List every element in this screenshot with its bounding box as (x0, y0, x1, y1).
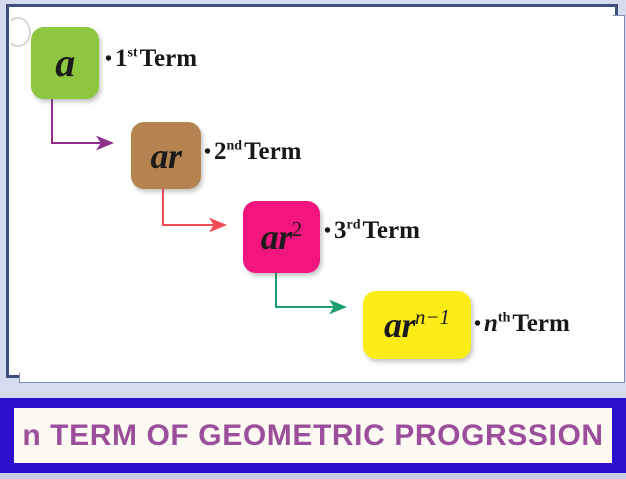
term-word-2: Term (244, 138, 301, 165)
term-box-ar[interactable]: ar (131, 122, 201, 189)
bottom-strip (0, 473, 626, 479)
ordinal-n: nth (484, 310, 510, 337)
term-box-a[interactable]: a (31, 27, 99, 99)
term-word-1: Term (140, 45, 197, 72)
caption-box: n TERM OF GEOMETRIC PROGRSSION (14, 408, 612, 463)
term-expression-ar: ar (150, 138, 181, 174)
term-expression-a: a (55, 43, 75, 83)
term-word-n: Term (512, 310, 569, 337)
term-expression-arn: arn−1 (384, 307, 450, 343)
ordinal-3: 3rd (334, 217, 361, 244)
bullet-icon-3: • (324, 220, 331, 242)
term-expression-ar2: ar2 (261, 219, 302, 255)
bullet-icon-2: • (204, 141, 211, 163)
term-word-3: Term (363, 217, 420, 244)
term-box-ar2[interactable]: ar2 (243, 201, 320, 273)
slide-canvas: a •1stTerm ar •2ndTerm ar2 •3rdTerm arn−… (0, 0, 626, 479)
term-label-nth: •nthTerm (474, 310, 570, 338)
term-label-2nd: •2ndTerm (204, 138, 302, 166)
diagram-canvas: a •1stTerm ar •2ndTerm ar2 •3rdTerm arn−… (11, 9, 613, 373)
caption-title: n TERM OF GEOMETRIC PROGRSSION (22, 419, 603, 453)
ordinal-2: 2nd (214, 138, 242, 165)
bullet-icon-n: • (474, 313, 481, 335)
bullet-icon-1: • (105, 48, 112, 70)
ordinal-1: 1st (115, 45, 138, 72)
decorative-arc-icon (11, 17, 31, 47)
term-label-3rd: •3rdTerm (324, 217, 420, 245)
term-box-arn[interactable]: arn−1 (363, 291, 471, 359)
term-label-1st: •1stTerm (105, 45, 197, 73)
